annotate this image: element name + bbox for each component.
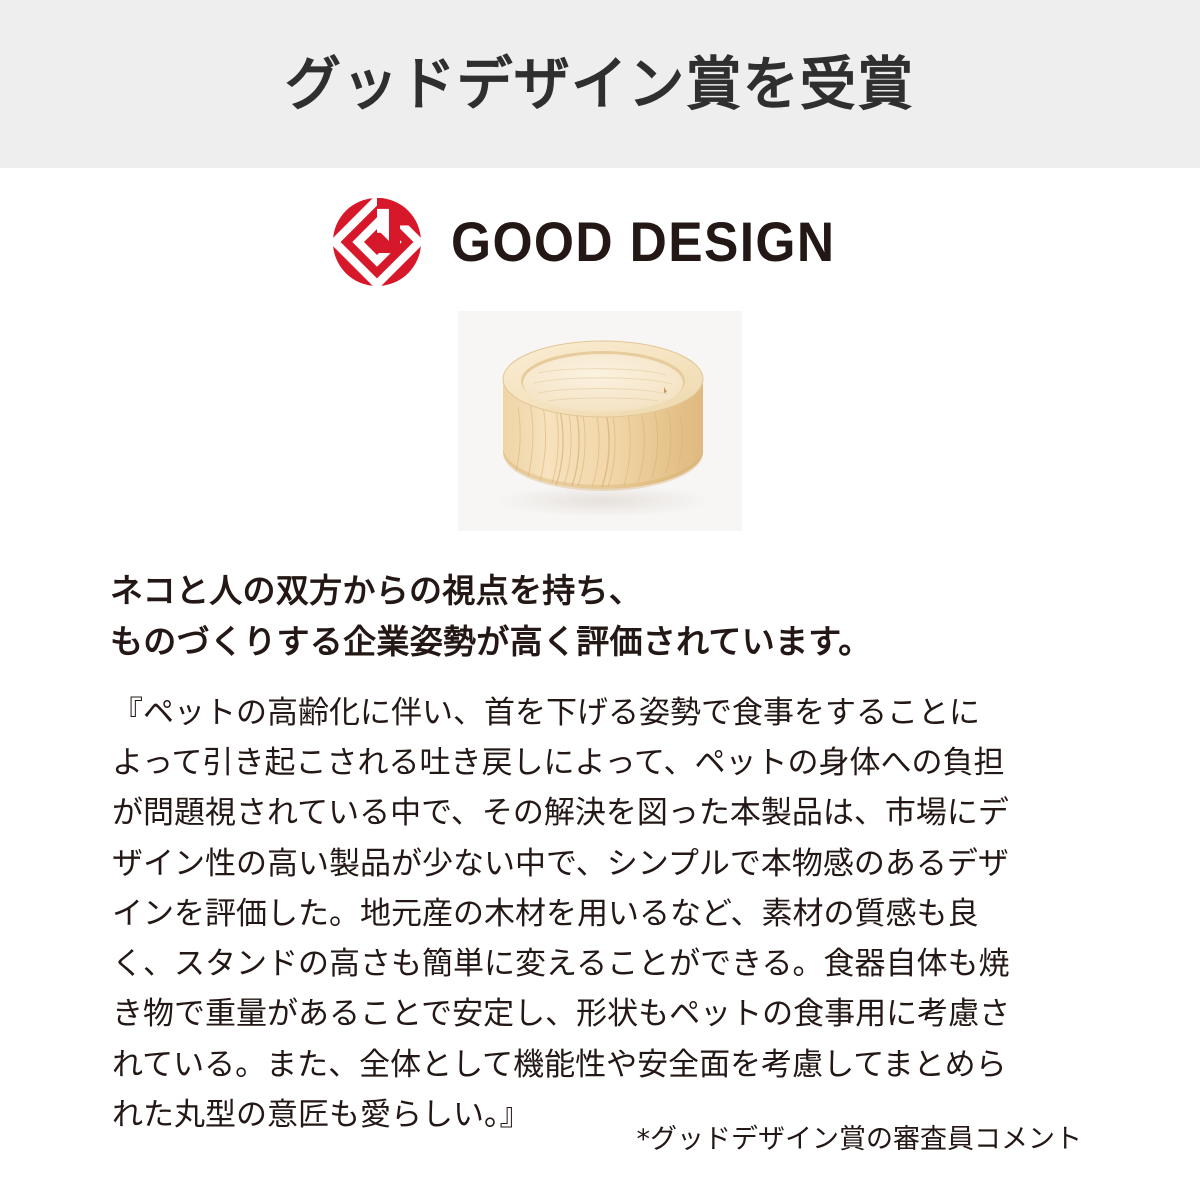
jury-quote: 『ペットの高齢化に伴い、首を下げる姿勢で食事をすることに よって引き起こされる吐… [112,688,1084,1140]
quote-line: き物で重量があることで安定し、形状もペットの食事用に考慮さ [112,989,1084,1039]
good-design-mark-icon [331,196,423,288]
quote-line: く、スタンドの高さも簡単に変えることができる。食器自体も焼 [112,939,1084,989]
quote-source-footnote: *グッドデザイン賞の審査員コメント [637,1122,1083,1157]
header-band: グッドデザイン賞を受賞 [0,0,1200,168]
quote-line: れている。また、全体として機能性や安全面を考慮してまとめら [112,1040,1084,1090]
product-photo [458,311,742,531]
quote-line: インを評価した。地元産の木材を用いるなど、素材の質感も良 [112,889,1084,939]
quote-line: 『ペットの高齢化に伴い、首を下げる姿勢で食事をすることに [112,688,1084,738]
headline-line-2: ものづくりする企業姿勢が高く評価されています。 [110,616,1090,667]
headline: ネコと人の双方からの視点を持ち、 ものづくりする企業姿勢が高く評価されています。 [110,565,1090,667]
quote-line: が問題視されている中で、その解決を図った本製品は、市場にデ [112,788,1084,838]
page-title: グッドデザイン賞を受賞 [285,55,915,113]
headline-line-1: ネコと人の双方からの視点を持ち、 [110,565,1090,616]
quote-line: よって引き起こされる吐き戻しによって、ペットの身体への負担 [112,738,1084,788]
award-promo-page: グッドデザイン賞を受賞 [0,0,1200,1200]
good-design-wordmark: GOOD DESIGN [451,214,835,270]
good-design-logo: GOOD DESIGN [0,196,1200,288]
quote-line: ザイン性の高い製品が少ない中で、シンプルで本物感のあるデザ [112,839,1084,889]
